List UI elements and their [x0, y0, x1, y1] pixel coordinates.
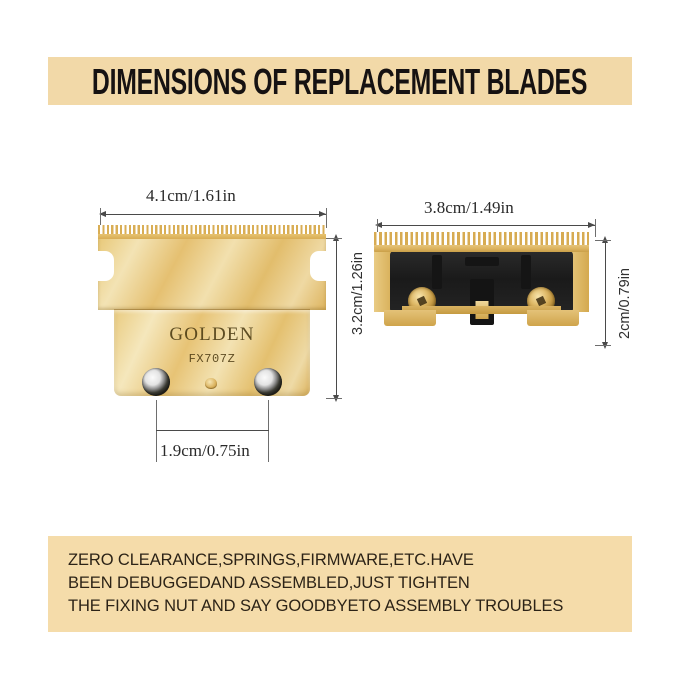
left-blade-width-ext-right — [326, 208, 327, 228]
right-blade-width-dimension-line — [377, 225, 595, 226]
left-blade-height-label: 3.2cm/1.26in — [350, 252, 366, 335]
blade-notch-left — [98, 251, 114, 281]
right-blade-height-ext-bottom — [595, 345, 611, 346]
right-blade-height-dimension-line — [605, 240, 606, 345]
hole-spacing-dimension-line — [156, 430, 269, 431]
right-blade-width-ext-right — [595, 219, 596, 237]
blade-teeth-base-bar — [98, 234, 326, 239]
cutter-housing-groove-right — [521, 255, 531, 289]
left-blade-width-arrow-end — [319, 211, 326, 217]
infographic-page: DIMENSIONS OF REPLACEMENT BLADES 4.1cm/1… — [0, 0, 679, 679]
hole-spacing-label: 1.9cm/0.75in — [160, 441, 250, 461]
blade-model-text: FX707Z — [114, 352, 310, 366]
blade-screw-hole-right — [254, 368, 282, 396]
right-blade-height-label: 2cm/0.79in — [617, 268, 633, 339]
footer-text-block: ZERO CLEARANCE,SPRINGS,FIRMWARE,ETC.HAVE… — [68, 549, 624, 618]
right-blade-height-ext-top — [595, 240, 611, 241]
left-blade-height-ext-top — [326, 238, 342, 239]
hole-spacing-ext-right — [268, 400, 269, 462]
cutter-housing-slot-center — [465, 257, 499, 266]
cutter-comb-teeth — [374, 232, 589, 245]
blade-center-stud — [205, 378, 217, 389]
right-blade-image — [374, 232, 589, 342]
cutter-housing-groove-left — [432, 255, 442, 289]
left-blade-width-dimension-line — [100, 214, 326, 215]
left-blade-width-label: 4.1cm/1.61in — [146, 186, 236, 206]
blade-upper-plate — [98, 237, 326, 310]
cutter-foot-right — [527, 310, 579, 326]
cutter-black-housing — [390, 251, 573, 313]
hole-spacing-ext-left — [156, 400, 157, 462]
left-blade-height-ext-bottom — [326, 398, 342, 399]
footer-line-3: THE FIXING NUT AND SAY GOODBYETO ASSEMBL… — [68, 595, 624, 618]
title-banner: DIMENSIONS OF REPLACEMENT BLADES — [48, 57, 632, 105]
footer-line-1: ZERO CLEARANCE,SPRINGS,FIRMWARE,ETC.HAVE — [68, 549, 624, 572]
left-blade-image: GOLDEN FX707Z — [98, 225, 326, 398]
blade-notch-right — [310, 251, 326, 281]
blade-lower-plate: GOLDEN FX707Z — [114, 310, 310, 396]
blade-brand-text: GOLDEN — [114, 324, 310, 346]
cutter-foot-left — [384, 310, 436, 326]
footer-line-2: BEEN DEBUGGEDAND ASSEMBLED,JUST TIGHTEN — [68, 572, 624, 595]
footer-banner: ZERO CLEARANCE,SPRINGS,FIRMWARE,ETC.HAVE… — [48, 536, 632, 632]
right-blade-width-label: 3.8cm/1.49in — [424, 198, 514, 218]
page-title: DIMENSIONS OF REPLACEMENT BLADES — [92, 63, 587, 100]
left-blade-height-dimension-line — [336, 238, 337, 398]
right-blade-width-arrow-end — [588, 222, 595, 228]
blade-screw-hole-left — [142, 368, 170, 396]
